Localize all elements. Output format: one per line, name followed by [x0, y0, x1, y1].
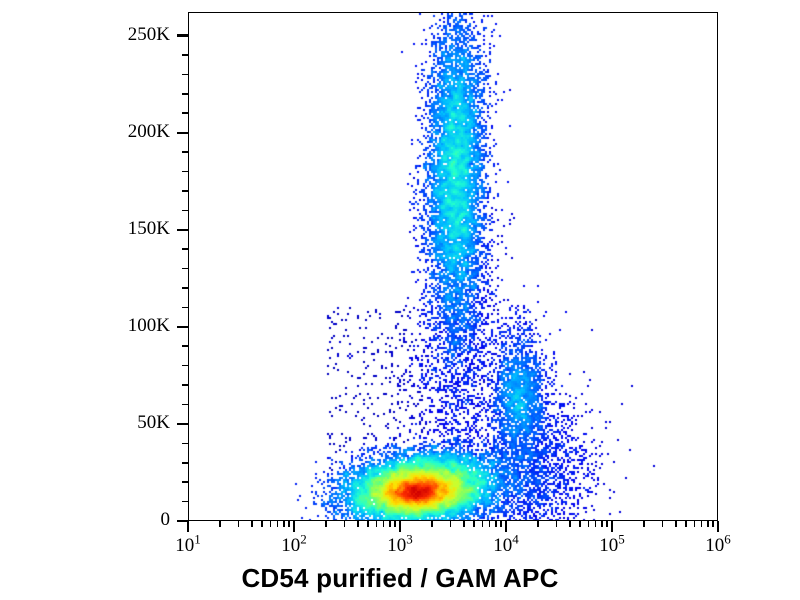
x-tick-minor — [463, 521, 465, 527]
x-tick-major — [399, 521, 401, 532]
x-tick-minor — [489, 521, 491, 527]
x-tick-minor — [537, 521, 539, 527]
x-tick-minor — [376, 521, 378, 527]
x-tick-minor — [482, 521, 484, 527]
x-tick-minor — [238, 521, 240, 527]
x-tick-major — [505, 521, 507, 532]
x-tick-minor — [251, 521, 253, 527]
x-tick-label: 106 — [705, 535, 731, 557]
x-tick-minor — [595, 521, 597, 527]
y-tick-label: 150K — [0, 218, 188, 240]
x-tick-minor — [357, 521, 359, 527]
x-tick-major — [611, 521, 613, 532]
plot-area — [188, 12, 718, 521]
density-scatter-canvas — [189, 13, 718, 521]
y-tick-label: 50K — [0, 412, 188, 434]
x-tick-minor — [606, 521, 608, 527]
x-tick-minor — [277, 521, 279, 527]
x-tick-minor — [389, 521, 391, 527]
x-tick-minor — [662, 521, 664, 527]
x-tick-minor — [685, 521, 687, 527]
x-tick-minor — [588, 521, 590, 527]
x-tick-label: 105 — [599, 535, 625, 557]
x-tick-minor — [394, 521, 396, 527]
x-tick-minor — [288, 521, 290, 527]
x-tick-minor — [473, 521, 475, 527]
x-tick-minor — [579, 521, 581, 527]
x-tick-minor — [601, 521, 603, 527]
y-tick-label: 0 — [0, 509, 188, 531]
x-tick-minor — [219, 521, 221, 527]
x-tick-minor — [261, 521, 263, 527]
x-tick-label: 102 — [281, 535, 307, 557]
x-tick-minor — [431, 521, 433, 527]
x-tick-label: 103 — [387, 535, 413, 557]
x-tick-minor — [344, 521, 346, 527]
x-tick-minor — [495, 521, 497, 527]
x-tick-minor — [643, 521, 645, 527]
x-tick-minor — [701, 521, 703, 527]
x-tick-minor — [270, 521, 272, 527]
x-tick-minor — [675, 521, 677, 527]
x-tick-minor — [283, 521, 285, 527]
x-tick-minor — [694, 521, 696, 527]
x-tick-minor — [569, 521, 571, 527]
x-tick-label: 101 — [175, 535, 201, 557]
x-tick-minor — [556, 521, 558, 527]
x-tick-minor — [367, 521, 369, 527]
x-tick-minor — [500, 521, 502, 527]
x-axis-title: CD54 purified / GAM APC — [0, 563, 800, 594]
y-tick-label: 250K — [0, 24, 188, 46]
x-tick-major — [293, 521, 295, 532]
x-tick-minor — [325, 521, 327, 527]
x-tick-major — [187, 521, 189, 532]
y-tick-label: 100K — [0, 315, 188, 337]
x-tick-major — [717, 521, 719, 532]
x-tick-minor — [712, 521, 714, 527]
x-tick-minor — [450, 521, 452, 527]
x-tick-minor — [707, 521, 709, 527]
flow-cytometry-figure: Side Scatter 050K100K150K200K250K 101102… — [0, 0, 800, 600]
y-tick-label: 200K — [0, 121, 188, 143]
x-tick-label: 104 — [493, 535, 519, 557]
x-tick-minor — [383, 521, 385, 527]
